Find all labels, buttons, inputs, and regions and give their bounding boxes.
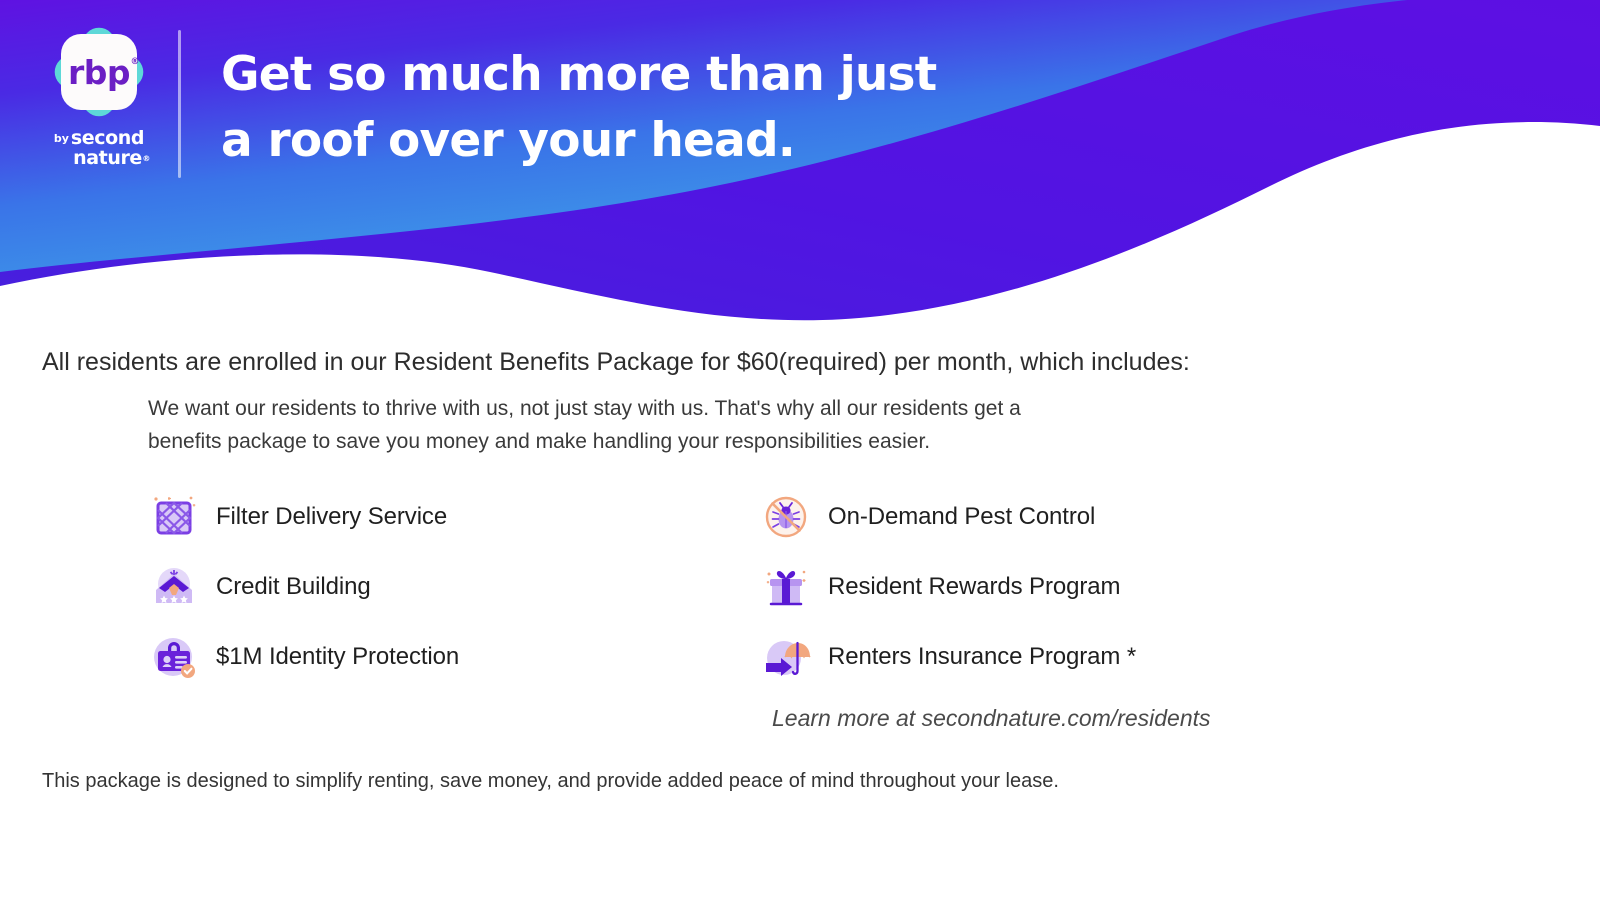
- benefit-item-renters-insurance[interactable]: Renters Insurance Program *: [760, 622, 1136, 692]
- benefit-item-filter-delivery[interactable]: Filter Delivery Service: [148, 482, 459, 552]
- page-title: Get so much more than just a roof over y…: [221, 42, 936, 174]
- logo-brand-name: secondnature®: [71, 128, 144, 168]
- credit-badge-icon: [148, 561, 200, 613]
- benefit-item-resident-rewards[interactable]: Resident Rewards Program: [760, 552, 1136, 622]
- benefit-label: Credit Building: [216, 573, 371, 601]
- footer-note: This package is designed to simplify ren…: [42, 770, 1059, 793]
- logo-brand-trademark: ®: [142, 149, 150, 169]
- benefit-item-identity-protection[interactable]: $1M Identity Protection: [148, 622, 459, 692]
- benefit-item-pest-control[interactable]: On-Demand Pest Control: [760, 482, 1136, 552]
- benefit-label: On-Demand Pest Control: [828, 503, 1095, 531]
- benefits-right-column: On-Demand Pest Control: [760, 482, 1136, 692]
- benefit-label: Filter Delivery Service: [216, 503, 447, 531]
- headline-line-2: a roof over your head.: [221, 108, 936, 174]
- learn-more-link[interactable]: Learn more at secondnature.com/residents: [772, 705, 1211, 732]
- logo-mark: rbp®: [49, 22, 149, 122]
- logo-by-word: by: [54, 133, 69, 144]
- benefits-left-column: Filter Delivery Service: [148, 482, 459, 692]
- benefit-label: Renters Insurance Program *: [828, 643, 1136, 671]
- pest-control-icon: [760, 491, 812, 543]
- intro-body-line-1: We want our residents to thrive with us,…: [148, 392, 1021, 425]
- benefit-label: $1M Identity Protection: [216, 643, 459, 671]
- logo-trademark: ®: [131, 58, 140, 67]
- headline-line-1: Get so much more than just: [221, 42, 936, 108]
- id-protection-icon: [148, 631, 200, 683]
- intro-headline: All residents are enrolled in our Reside…: [42, 345, 1190, 379]
- intro-body-line-2: benefits package to save you money and m…: [148, 425, 1021, 458]
- logo-brand-line1: second: [71, 127, 144, 149]
- logo-byline: bysecondnature®: [44, 128, 154, 168]
- logo-square-shape: rbp®: [61, 34, 137, 110]
- logo-divider: [178, 30, 181, 178]
- logo-rbp-text: rbp®: [68, 56, 130, 89]
- umbrella-insurance-icon: [760, 631, 812, 683]
- rbp-benefits-flyer: rbp® bysecondnature® Get so much more th…: [0, 0, 1600, 900]
- benefit-item-credit-building[interactable]: Credit Building: [148, 552, 459, 622]
- intro-body: We want our residents to thrive with us,…: [148, 392, 1021, 458]
- rbp-logo: rbp® bysecondnature®: [44, 22, 154, 172]
- gift-rewards-icon: [760, 561, 812, 613]
- logo-brand-line2: nature®: [73, 147, 142, 169]
- air-filter-icon: [148, 491, 200, 543]
- benefit-label: Resident Rewards Program: [828, 573, 1120, 601]
